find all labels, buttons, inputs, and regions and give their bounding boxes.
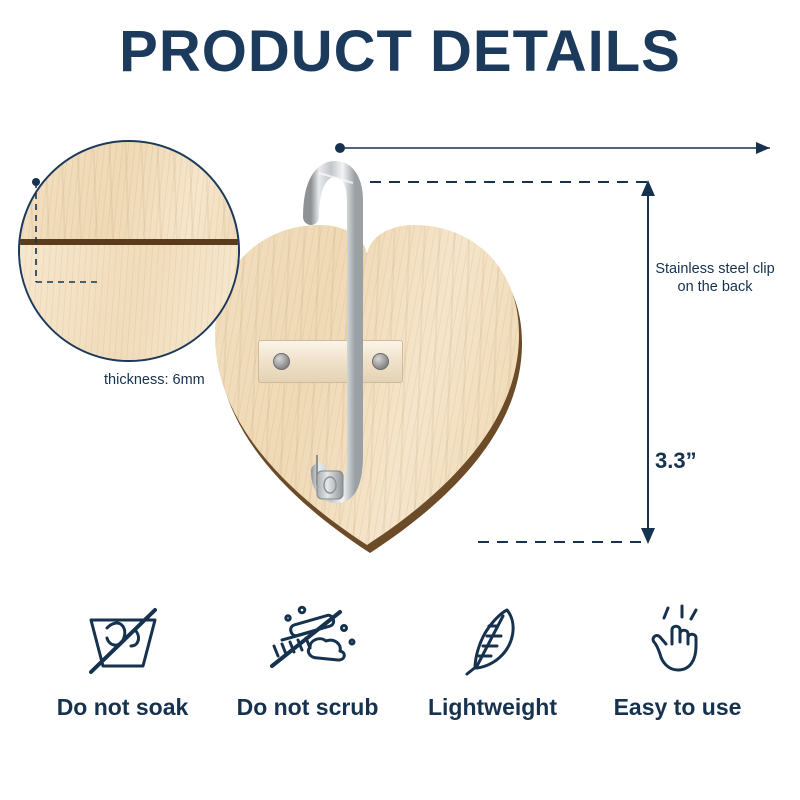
height-dimension-label: 3.3” bbox=[655, 448, 697, 474]
feature-lightweight: Lightweight bbox=[400, 600, 585, 760]
stainless-steel-clip-icon bbox=[295, 155, 365, 515]
product-illustration: thickness: 6mm Stainless steel clip on t… bbox=[0, 100, 800, 580]
feather-icon bbox=[453, 600, 533, 680]
heart-board bbox=[215, 185, 525, 555]
feature-label: Do not scrub bbox=[237, 694, 379, 721]
feature-label: Do not soak bbox=[57, 694, 189, 721]
clip-callout-line2: on the back bbox=[640, 278, 790, 296]
screw-right-icon bbox=[372, 353, 389, 370]
thickness-magnifier-icon bbox=[18, 140, 240, 362]
feature-easy-to-use: Easy to use bbox=[585, 600, 770, 760]
feature-do-not-soak: Do not soak bbox=[30, 600, 215, 760]
tap-hand-icon bbox=[638, 600, 718, 680]
product-details-page: PRODUCT DETAILS bbox=[0, 0, 800, 800]
feature-label: Lightweight bbox=[428, 694, 557, 721]
wood-grain-bottom bbox=[20, 245, 240, 362]
thickness-label: thickness: 6mm bbox=[104, 372, 205, 388]
no-scrub-icon bbox=[248, 600, 368, 680]
clip-callout-line1: Stainless steel clip bbox=[640, 260, 790, 278]
page-title: PRODUCT DETAILS bbox=[0, 18, 800, 85]
screw-left-icon bbox=[273, 353, 290, 370]
feature-do-not-scrub: Do not scrub bbox=[215, 600, 400, 760]
feature-row: Do not soak bbox=[0, 600, 800, 760]
clip-callout-label: Stainless steel clip on the back bbox=[640, 260, 790, 296]
board-lower-face bbox=[20, 245, 240, 362]
feature-label: Easy to use bbox=[614, 694, 742, 721]
no-soak-icon bbox=[77, 600, 169, 680]
